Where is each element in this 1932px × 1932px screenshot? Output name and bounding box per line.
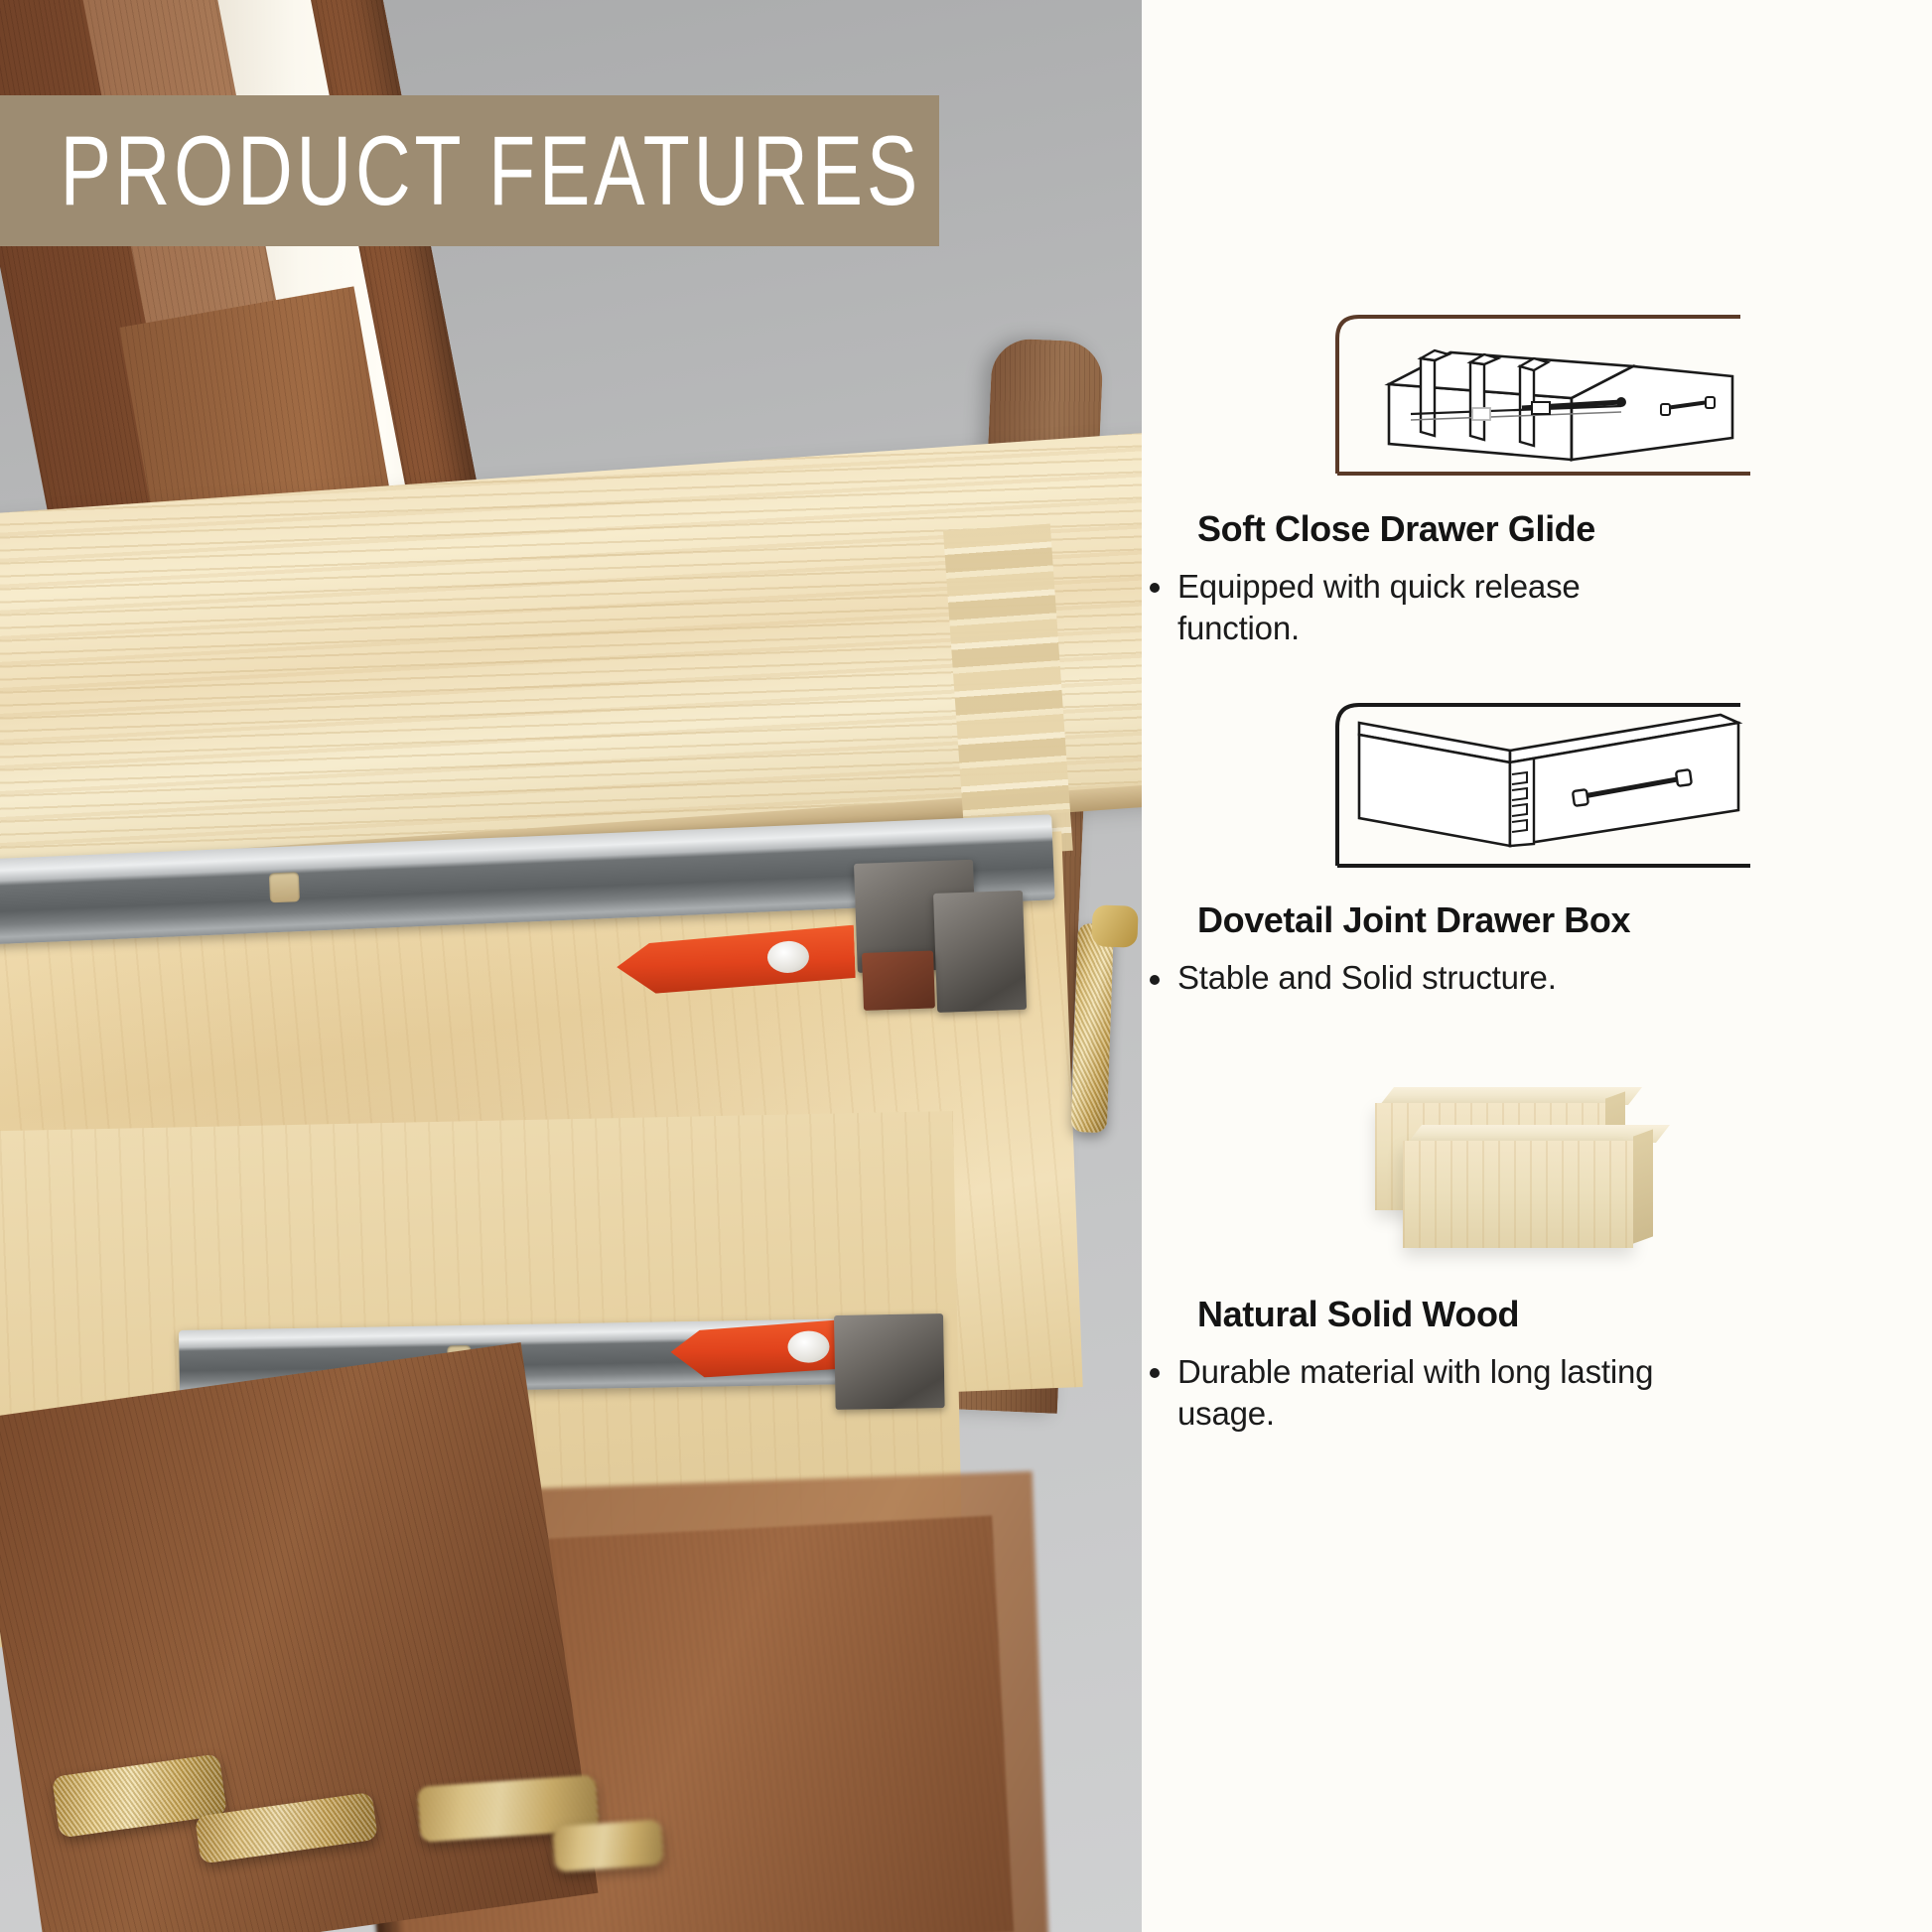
feature-item: Dovetail Joint Drawer Box Stable and Sol… bbox=[1142, 689, 1932, 999]
features-list: Soft Close Drawer Glide Equipped with qu… bbox=[1142, 298, 1932, 1449]
feature-bullet: Stable and Solid structure. bbox=[1142, 957, 1698, 999]
feature-item: Natural Solid Wood Durable material with… bbox=[1142, 1053, 1932, 1435]
feature-bullet-text: Durable material with long lasting usage… bbox=[1177, 1353, 1653, 1432]
wood-planks-illustration bbox=[1373, 1073, 1701, 1252]
feature-title: Soft Close Drawer Glide bbox=[1142, 508, 1932, 550]
product-photo bbox=[0, 0, 1142, 1932]
brass-handle-cap-open-drawer bbox=[1091, 904, 1138, 948]
dovetail-joint-fingers bbox=[943, 523, 1073, 858]
brass-handle-open-drawer bbox=[1071, 923, 1114, 1133]
feature-title: Dovetail Joint Drawer Box bbox=[1142, 899, 1932, 941]
slide-bracket-lower bbox=[834, 1313, 945, 1410]
feature-bullet: Durable material with long lasting usage… bbox=[1142, 1351, 1698, 1435]
lever-button-upper bbox=[766, 940, 809, 973]
feature-bullet: Equipped with quick release function. bbox=[1142, 566, 1698, 649]
lever-button-lower bbox=[787, 1330, 830, 1363]
slide-notch bbox=[269, 872, 300, 902]
feature-title: Natural Solid Wood bbox=[1142, 1294, 1932, 1335]
solid-wood-planks-icon bbox=[1142, 1053, 1932, 1272]
dovetail-drawer-box-icon bbox=[1142, 689, 1932, 878]
page-title: PRODUCT FEATURES bbox=[60, 114, 921, 227]
bullet-dot bbox=[1150, 583, 1160, 593]
bullet-dot bbox=[1150, 1368, 1160, 1378]
title-banner: PRODUCT FEATURES bbox=[0, 95, 939, 246]
bullet-dot bbox=[1150, 975, 1160, 985]
feature-bullet-text: Stable and Solid structure. bbox=[1177, 959, 1557, 996]
feature-item: Soft Close Drawer Glide Equipped with qu… bbox=[1142, 298, 1932, 649]
infographic-canvas: Soft Close Drawer Glide Equipped with qu… bbox=[0, 0, 1932, 1932]
features-panel: Soft Close Drawer Glide Equipped with qu… bbox=[1142, 0, 1932, 1932]
brass-handle-lower-right-shank bbox=[552, 1819, 664, 1872]
feature-bullet-text: Equipped with quick release function. bbox=[1177, 568, 1581, 646]
plank-front-face bbox=[1403, 1141, 1633, 1248]
drawer-glide-icon bbox=[1142, 298, 1932, 486]
slide-mount-upper bbox=[933, 891, 1027, 1013]
plank-front-side bbox=[1633, 1129, 1653, 1243]
lever-anchor-upper bbox=[862, 950, 935, 1010]
